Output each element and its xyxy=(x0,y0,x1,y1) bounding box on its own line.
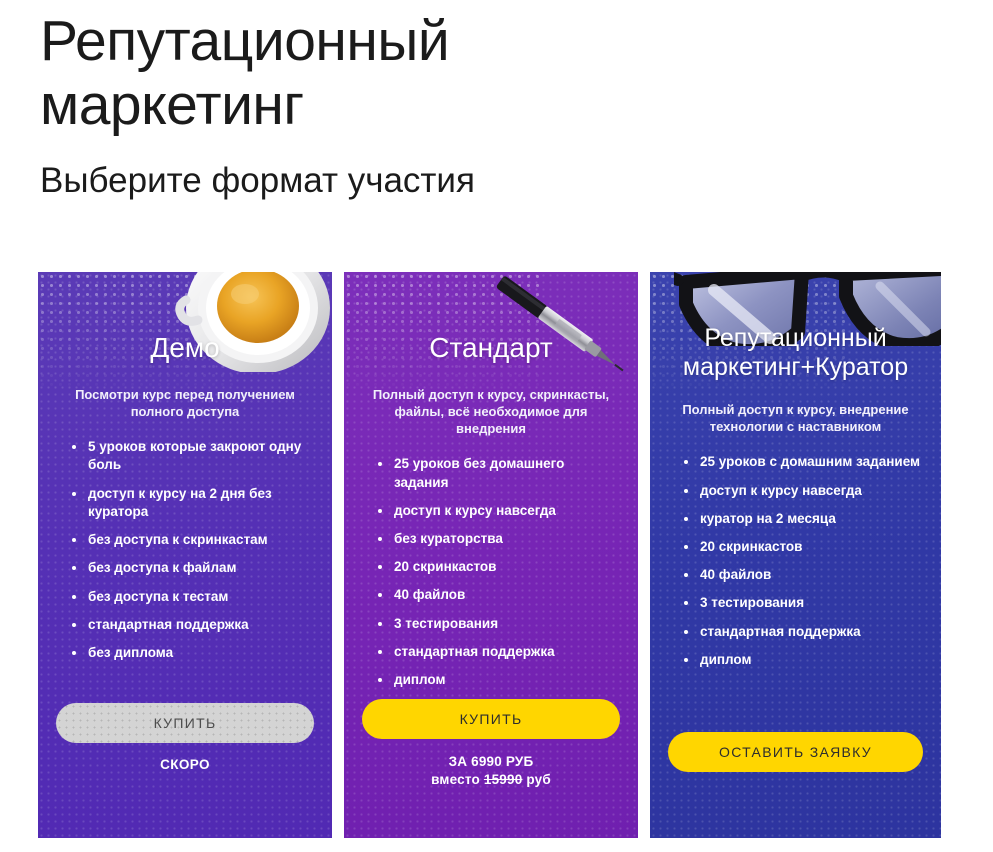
feature-item: доступ к курсу навсегда xyxy=(378,502,620,520)
feature-item: 20 скринкастов xyxy=(684,538,923,556)
feature-item: доступ к курсу на 2 дня без куратора xyxy=(72,485,314,521)
price-old-value: 15990 xyxy=(484,772,523,787)
feature-list: 25 уроков с домашним заданием доступ к к… xyxy=(668,453,923,679)
feature-list: 25 уроков без домашнего задания доступ к… xyxy=(362,455,620,699)
feature-item: диплом xyxy=(378,671,620,689)
card-footer: ОСТАВИТЬ ЗАЯВКУ xyxy=(668,732,923,838)
feature-item: 3 тестирования xyxy=(378,615,620,633)
feature-item: без доступа к скринкастам xyxy=(72,531,314,549)
buy-button-label: КУПИТЬ xyxy=(154,715,217,731)
price-old-line: вместо 15990 руб xyxy=(362,771,620,789)
feature-item: 20 скринкастов xyxy=(378,558,620,576)
feature-item: без диплома xyxy=(72,644,314,662)
feature-item: без доступа к тестам xyxy=(72,588,314,606)
card-content: Стандарт Полный доступ к курсу, скринкас… xyxy=(344,272,638,838)
feature-item: доступ к курсу навсегда xyxy=(684,482,923,500)
page-header: Репутационный маркетинг Выберите формат … xyxy=(0,0,993,202)
card-title: Стандарт xyxy=(362,272,620,364)
card-footer: КУПИТЬ СКОРО xyxy=(56,703,314,838)
feature-item: 25 уроков без домашнего задания xyxy=(378,455,620,491)
request-button-curator[interactable]: ОСТАВИТЬ ЗАЯВКУ xyxy=(668,732,923,772)
card-title: Демо xyxy=(56,272,314,364)
card-content: Демо Посмотри курс перед получением полн… xyxy=(38,272,332,838)
price-old-suffix: руб xyxy=(522,772,550,787)
card-title: Репутационный маркетинг+Куратор xyxy=(668,272,923,381)
feature-item: без кураторства xyxy=(378,530,620,548)
feature-item: 40 файлов xyxy=(378,586,620,604)
feature-item: стандартная поддержка xyxy=(378,643,620,661)
feature-item: 3 тестирования xyxy=(684,594,923,612)
feature-item: 5 уроков которые закроют одну боль xyxy=(72,438,314,474)
feature-item: 40 файлов xyxy=(684,566,923,584)
feature-item: без доступа к файлам xyxy=(72,559,314,577)
feature-item: 25 уроков с домашним заданием xyxy=(684,453,923,471)
card-lead-text: Полный доступ к курсу, скринкасты, файлы… xyxy=(368,386,614,437)
card-footer: КУПИТЬ ЗА 6990 РУБ вместо 15990 руб xyxy=(362,699,620,838)
pricing-card-curator[interactable]: Репутационный маркетинг+Куратор Полный д… xyxy=(650,272,941,838)
feature-list: 5 уроков которые закроют одну боль досту… xyxy=(56,438,314,672)
pricing-cards-row: Демо Посмотри курс перед получением полн… xyxy=(38,272,955,838)
pricing-card-demo[interactable]: Демо Посмотри курс перед получением полн… xyxy=(38,272,332,838)
feature-item: диплом xyxy=(684,651,923,669)
buy-button-label: КУПИТЬ xyxy=(460,711,523,727)
price-block: ЗА 6990 РУБ вместо 15990 руб xyxy=(362,753,620,788)
feature-item: куратор на 2 месяца xyxy=(684,510,923,528)
coming-soon-note: СКОРО xyxy=(56,757,314,772)
card-content: Репутационный маркетинг+Куратор Полный д… xyxy=(650,272,941,838)
feature-item: стандартная поддержка xyxy=(72,616,314,634)
page-subtitle: Выберите формат участия xyxy=(40,160,993,202)
price-old-prefix: вместо xyxy=(431,772,484,787)
buy-button-demo[interactable]: КУПИТЬ xyxy=(56,703,314,743)
card-lead-text: Посмотри курс перед получением полного д… xyxy=(62,386,308,420)
card-lead-text: Полный доступ к курсу, внедрение техноло… xyxy=(674,401,917,435)
page-title: Репутационный маркетинг xyxy=(40,10,660,138)
request-button-label: ОСТАВИТЬ ЗАЯВКУ xyxy=(719,744,872,760)
feature-item: стандартная поддержка xyxy=(684,623,923,641)
buy-button-standard[interactable]: КУПИТЬ xyxy=(362,699,620,739)
price-current: ЗА 6990 РУБ xyxy=(362,753,620,771)
pricing-card-standard[interactable]: Стандарт Полный доступ к курсу, скринкас… xyxy=(344,272,638,838)
